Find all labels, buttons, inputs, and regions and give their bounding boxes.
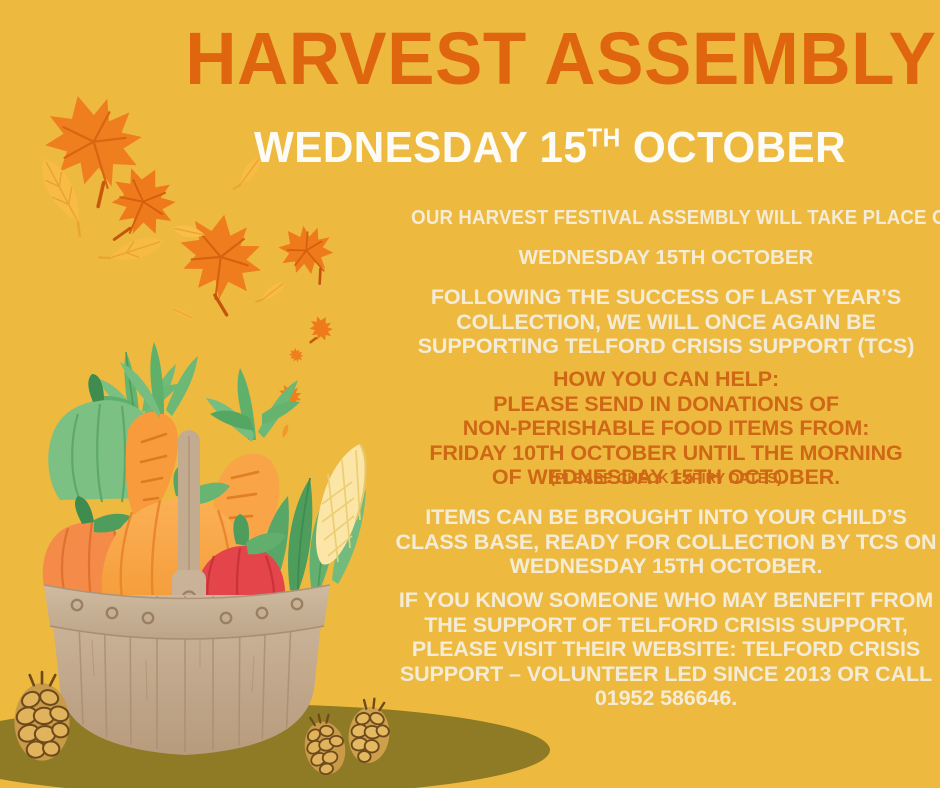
expiry-note: (PLEASE CHECK EXPIRY DATES) [392,470,940,488]
help-line-1: HOW YOU CAN HELP: [392,367,940,392]
dropoff-line-1: ITEMS CAN BE BROUGHT INTO YOUR CHILD’S [392,505,940,530]
harvest-assembly-poster: HARVEST ASSEMBLY WEDNESDAY 15TH OCTOBER … [0,0,940,788]
dropoff-line-2: CLASS BASE, READY FOR COLLECTION BY TCS … [392,530,940,555]
page-title: HARVEST ASSEMBLY [185,22,915,96]
help-line-2: PLEASE SEND IN DONATIONS OF [392,392,940,417]
support-line-3: SUPPORTING TELFORD CRISIS SUPPORT (TCS) [392,334,940,359]
help-line-4: FRIDAY 10TH OCTOBER UNTIL THE MORNING [392,441,940,466]
help-line-3: NON-PERISHABLE FOOD ITEMS FROM: [392,416,940,441]
contact-phone: 01952 586646. [392,686,940,711]
contact-line-1: IF YOU KNOW SOMEONE WHO MAY BENEFIT FROM [392,588,940,613]
subtitle-prefix: WEDNESDAY 15 [254,123,587,172]
intro-line: OUR HARVEST FESTIVAL ASSEMBLY WILL TAKE … [411,207,921,230]
dropoff-paragraph: ITEMS CAN BE BROUGHT INTO YOUR CHILD’S C… [392,505,940,579]
subtitle-ordinal: TH [587,124,620,152]
contact-line-3: PLEASE VISIT THEIR WEBSITE: TELFORD CRIS… [392,637,940,662]
support-line-2: COLLECTION, WE WILL ONCE AGAIN BE [392,310,940,335]
contact-paragraph: IF YOU KNOW SOMEONE WHO MAY BENEFIT FROM… [392,588,940,711]
support-paragraph: FOLLOWING THE SUCCESS OF LAST YEAR’S COL… [392,285,940,359]
page-subtitle: WEDNESDAY 15TH OCTOBER [185,126,915,170]
contact-line-4: SUPPORT – VOLUNTEER LED SINCE 2013 OR CA… [392,662,940,687]
subtitle-suffix: OCTOBER [621,123,846,172]
contact-line-2: THE SUPPORT OF TELFORD CRISIS SUPPORT, [392,613,940,638]
date-line-block: WEDNESDAY 15TH OCTOBER [392,245,940,270]
dropoff-line-3: WEDNESDAY 15TH OCTOBER. [392,554,940,579]
support-line-1: FOLLOWING THE SUCCESS OF LAST YEAR’S [392,285,940,310]
intro-line-block: OUR HARVEST FESTIVAL ASSEMBLY WILL TAKE … [392,207,940,230]
date-line: WEDNESDAY 15TH OCTOBER [392,245,940,270]
expiry-note-block: (PLEASE CHECK EXPIRY DATES) [392,470,940,488]
